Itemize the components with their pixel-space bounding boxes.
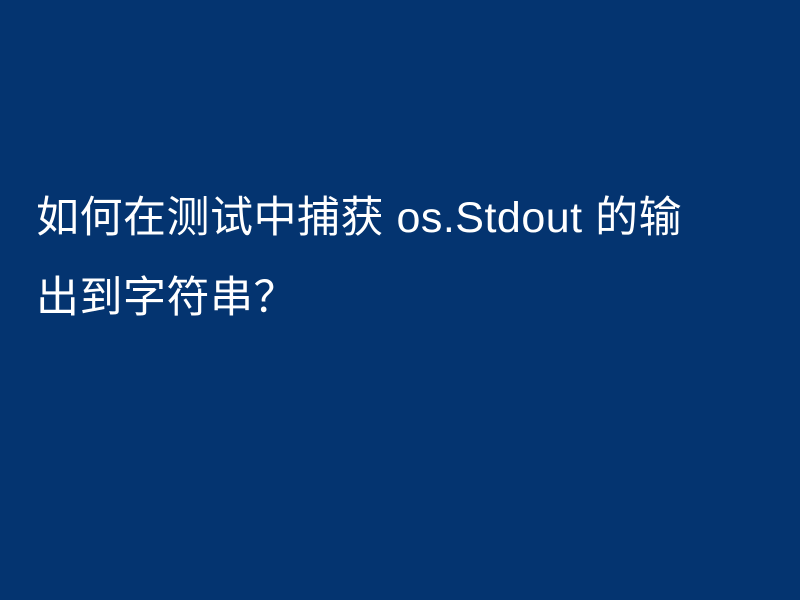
title-card: 如何在测试中捕获 os.Stdout 的输出到字符串？	[0, 0, 800, 600]
page-title: 如何在测试中捕获 os.Stdout 的输出到字符串？	[36, 178, 696, 338]
title-block: 如何在测试中捕获 os.Stdout 的输出到字符串？	[36, 178, 696, 338]
